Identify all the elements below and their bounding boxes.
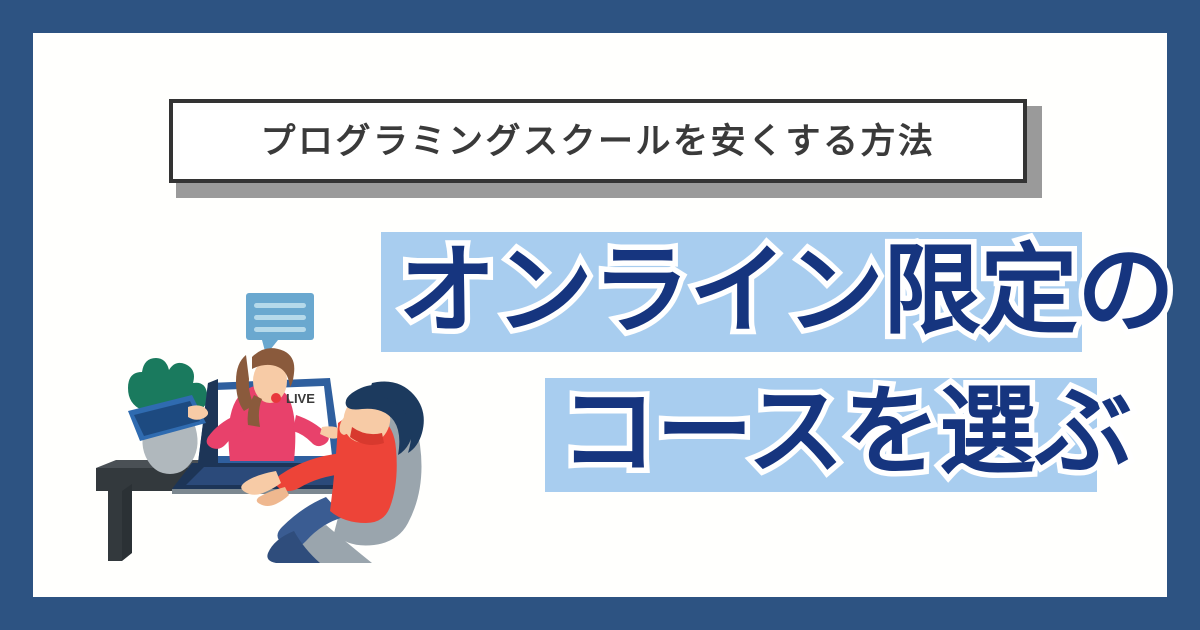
live-badge-label: LIVE bbox=[286, 391, 315, 406]
graphic-canvas: プログラミングスクールを安くする方法 オンライン限定の コースを選ぶ bbox=[0, 0, 1200, 630]
chat-bubble-icon bbox=[246, 293, 314, 355]
online-lesson-illustration: LIVE bbox=[80, 275, 460, 575]
illustration-svg: LIVE bbox=[80, 275, 460, 575]
title-box: プログラミングスクールを安くする方法 bbox=[169, 99, 1027, 183]
headline-line-1: オンライン限定の bbox=[398, 241, 1174, 339]
page-title: プログラミングスクールを安くする方法 bbox=[260, 124, 935, 159]
headline-line-2: コースを選ぶ bbox=[560, 383, 1131, 480]
